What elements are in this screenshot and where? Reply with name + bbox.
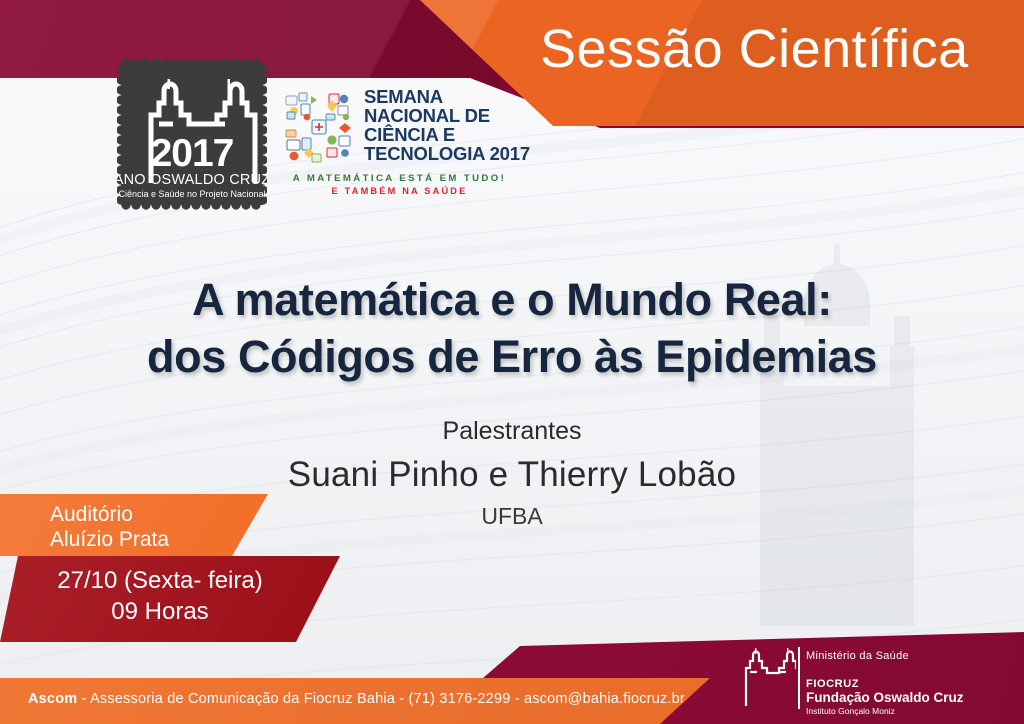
snct-line-2: NACIONAL DE xyxy=(364,107,530,126)
snct-wordmark: SEMANA NACIONAL DE CIÊNCIA E TECNOLOGIA … xyxy=(364,88,530,163)
snct-line-3: CIÊNCIA E xyxy=(364,126,530,145)
castle-watermark-icon xyxy=(742,196,932,626)
page-title-line-1: A matemática e o Mundo Real: xyxy=(0,272,1024,329)
snct-line-4: TECNOLOGIA 2017 xyxy=(364,145,530,164)
event-date: 27/10 (Sexta- feira) xyxy=(0,566,320,597)
header-title: Sessão Científica xyxy=(540,18,1010,80)
footer-credit-rest: - Assessoria de Comunicação da Fiocruz B… xyxy=(77,691,685,707)
ministry-label: Ministério da Saúde xyxy=(806,650,964,662)
svg-text:2017: 2017 xyxy=(151,132,234,175)
fiocruz-logo: Ministério da Saúde FIOCRUZ Fundação Osw… xyxy=(740,646,990,714)
poster-canvas: Sessão Científica xyxy=(0,0,1024,724)
svg-text:Ciência e Saúde no Projeto Nac: Ciência e Saúde no Projeto Nacional xyxy=(118,189,265,199)
venue-line-1: Auditório xyxy=(50,502,169,527)
fiocruz-foundation: Fundação Oswaldo Cruz xyxy=(806,690,964,706)
ano-oswaldo-cruz-stamp-logo: 2017 ANO OSWALDO CRUZ Ciência e Saúde no… xyxy=(117,58,267,210)
snct-tagline-2: E TAMBÉM NA SAÚDE xyxy=(282,186,517,196)
event-time: 09 Horas xyxy=(0,597,320,628)
fiocruz-castle-icon xyxy=(740,646,796,710)
snct-pinwheel-icon xyxy=(282,90,356,168)
snct-logo: SEMANA NACIONAL DE CIÊNCIA E TECNOLOGIA … xyxy=(282,88,517,196)
svg-text:ANO OSWALDO CRUZ: ANO OSWALDO CRUZ xyxy=(117,172,267,188)
speakers-label: Palestrantes xyxy=(0,417,1024,446)
fiocruz-institute: Instituto Gonçalo Moniz xyxy=(806,706,964,716)
snct-tagline-1: A MATEMÁTICA ESTÁ EM TUDO! xyxy=(282,173,517,184)
venue-line-2: Aluízio Prata xyxy=(50,527,169,552)
speakers-names: Suani Pinho e Thierry Lobão xyxy=(0,455,1024,495)
footer-credit-bold: Ascom xyxy=(28,691,77,707)
fiocruz-divider xyxy=(798,647,800,709)
page-title-line-2: dos Códigos de Erro às Epidemias xyxy=(0,329,1024,386)
page-title: A matemática e o Mundo Real: dos Códigos… xyxy=(0,272,1024,385)
fiocruz-brand: FIOCRUZ xyxy=(806,678,964,690)
footer-credit: Ascom - Assessoria de Comunicação da Fio… xyxy=(28,691,685,707)
